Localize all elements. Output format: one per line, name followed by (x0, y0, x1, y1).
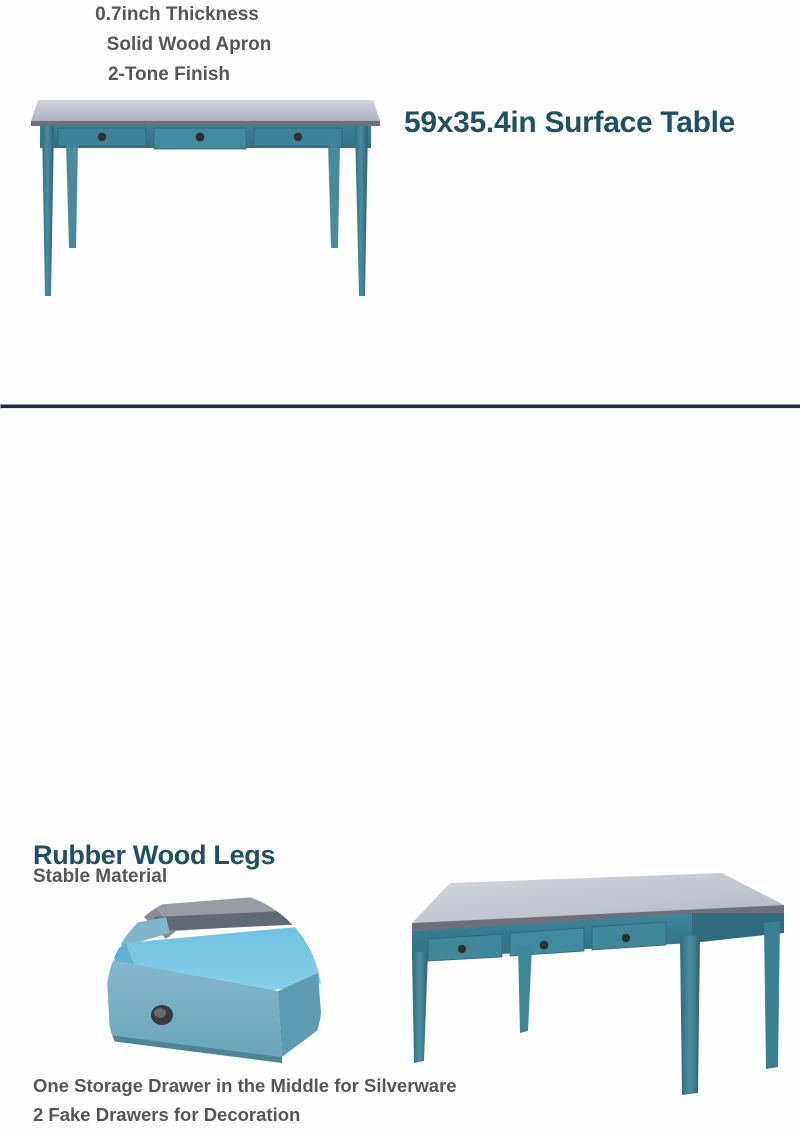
bottom-panel: Rubber Wood Legs Stable Material (0, 399, 800, 800)
spec-item-thickness: 0.7inch Thickness (0, 0, 390, 30)
table-legs (42, 126, 368, 296)
open-storage-drawer-image (92, 887, 332, 1069)
bottom-panel-subhead: Stable Material (33, 866, 167, 888)
dining-table-front-view-image (18, 88, 393, 306)
top-panel-headline: 59x35.4in Surface Table (404, 106, 735, 140)
drawer-closeup-svg (92, 887, 332, 1069)
apron-with-drawers (40, 126, 371, 149)
spec-list: 0.7inch Thickness Solid Wood Apron 2-Ton… (0, 0, 390, 90)
product-infographic: 59x35.4in Surface Table 0.7inch Thicknes… (0, 0, 800, 800)
drawer-notes-list: One Storage Drawer in the Middle for Sil… (33, 1071, 457, 1129)
spec-item-apron: Solid Wood Apron (0, 30, 390, 60)
drawer-circular-crop (106, 891, 332, 1063)
drawer-note-storage: One Storage Drawer in the Middle for Sil… (33, 1071, 457, 1100)
tabletop (31, 100, 380, 126)
top-panel: 59x35.4in Surface Table 0.7inch Thicknes… (0, 0, 800, 397)
table-front-svg (18, 88, 393, 306)
drawer-note-fake: 2 Fake Drawers for Decoration (33, 1100, 457, 1129)
spec-item-finish: 2-Tone Finish (0, 60, 390, 90)
